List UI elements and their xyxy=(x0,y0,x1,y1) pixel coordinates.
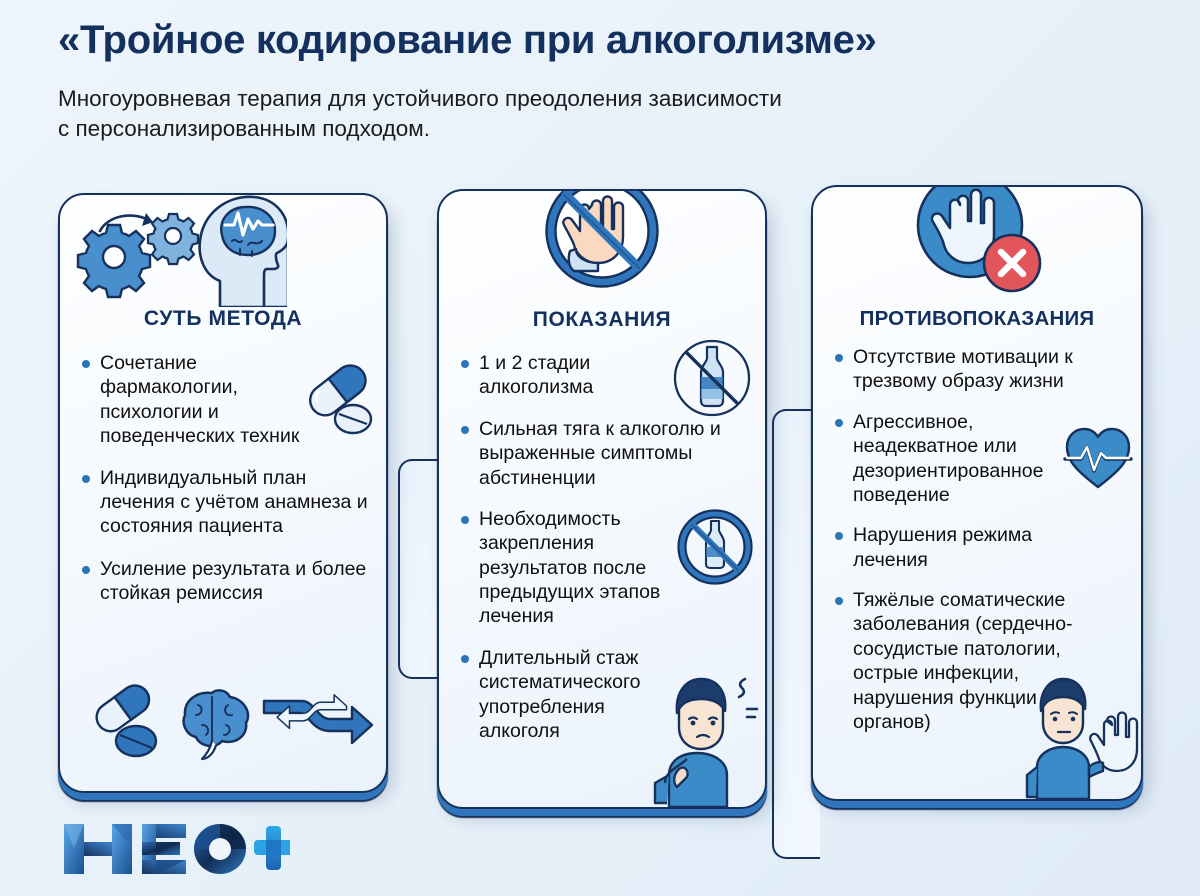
card-title-protivopokazaniya: ПРОТИВОПОКАЗАНИЯ xyxy=(813,307,1141,331)
list-item: Нарушения режима лечения xyxy=(833,523,1073,572)
stop-hand-with-red-cross-icon xyxy=(813,187,1141,301)
page-subtitle: Многоуровневая терапия для устойчивого п… xyxy=(58,84,1128,145)
list-item: Тяжёлые соматические заболевания (сердеч… xyxy=(833,588,1115,734)
gears-and-brain-head-icon xyxy=(60,195,386,307)
neo-plus-logo-icon xyxy=(60,818,290,880)
card-title-sut-metoda: СУТЬ МЕТОДА xyxy=(60,307,386,331)
cards-container: СУТЬ МЕТОДА Сочетание фармакологии, псих… xyxy=(0,183,1200,813)
list-item: Длительный стаж систематического употреб… xyxy=(459,646,681,744)
bullet-list-protivopokazaniya: Отсутствие мотивации к трезвому образу ж… xyxy=(813,345,1141,750)
no-hand-stop-icon xyxy=(439,191,765,297)
list-item: Необходимость закрепления результатов по… xyxy=(459,507,691,629)
capsule-brain-shuffle-icon xyxy=(84,673,374,777)
card-pokazaniya-inner: ПОКАЗАНИЯ 1 и 2 стадии алкоголизма Сильн… xyxy=(439,191,765,807)
list-item: Агрессивное, неадекватное или дезориенти… xyxy=(833,410,1065,508)
header: «Тройное кодирование при алкоголизме» Мн… xyxy=(58,18,1158,145)
subtitle-line-2: с персонализированным подходом. xyxy=(58,116,430,141)
card-title-pokazaniya: ПОКАЗАНИЯ xyxy=(439,308,765,332)
list-item: Сильная тяга к алкоголю и выраженные сим… xyxy=(459,417,751,490)
card-pokazaniya[interactable]: ПОКАЗАНИЯ 1 и 2 стадии алкоголизма Сильн… xyxy=(437,189,767,809)
page-title: «Тройное кодирование при алкоголизме» xyxy=(58,18,1158,62)
list-item: Усиление результата и более стойкая реми… xyxy=(80,557,368,606)
brand-logo xyxy=(60,818,290,880)
bullet-list-sut-metoda: Сочетание фармакологии, психологии и пов… xyxy=(60,351,386,622)
bullet-list-pokazaniya: 1 и 2 стадии алкоголизма Сильная тяга к … xyxy=(439,351,765,760)
list-item: Индивидуальный план лечения с учётом ана… xyxy=(80,466,370,539)
card-protivopokazaniya-inner: ПРОТИВОПОКАЗАНИЯ Отсутствие мотивации к … xyxy=(813,187,1141,799)
card-sut-metoda[interactable]: СУТЬ МЕТОДА Сочетание фармакологии, псих… xyxy=(58,193,388,793)
card-sut-metoda-inner: СУТЬ МЕТОДА Сочетание фармакологии, псих… xyxy=(60,195,386,791)
infographic-page: «Тройное кодирование при алкоголизме» Мн… xyxy=(0,0,1200,896)
list-item: Отсутствие мотивации к трезвому образу ж… xyxy=(833,345,1121,394)
list-item: 1 и 2 стадии алкоголизма xyxy=(459,351,644,400)
subtitle-line-1: Многоуровневая терапия для устойчивого п… xyxy=(58,86,782,111)
list-item: Сочетание фармакологии, психологии и пов… xyxy=(80,351,340,449)
card-protivopokazaniya[interactable]: ПРОТИВОПОКАЗАНИЯ Отсутствие мотивации к … xyxy=(811,185,1143,801)
